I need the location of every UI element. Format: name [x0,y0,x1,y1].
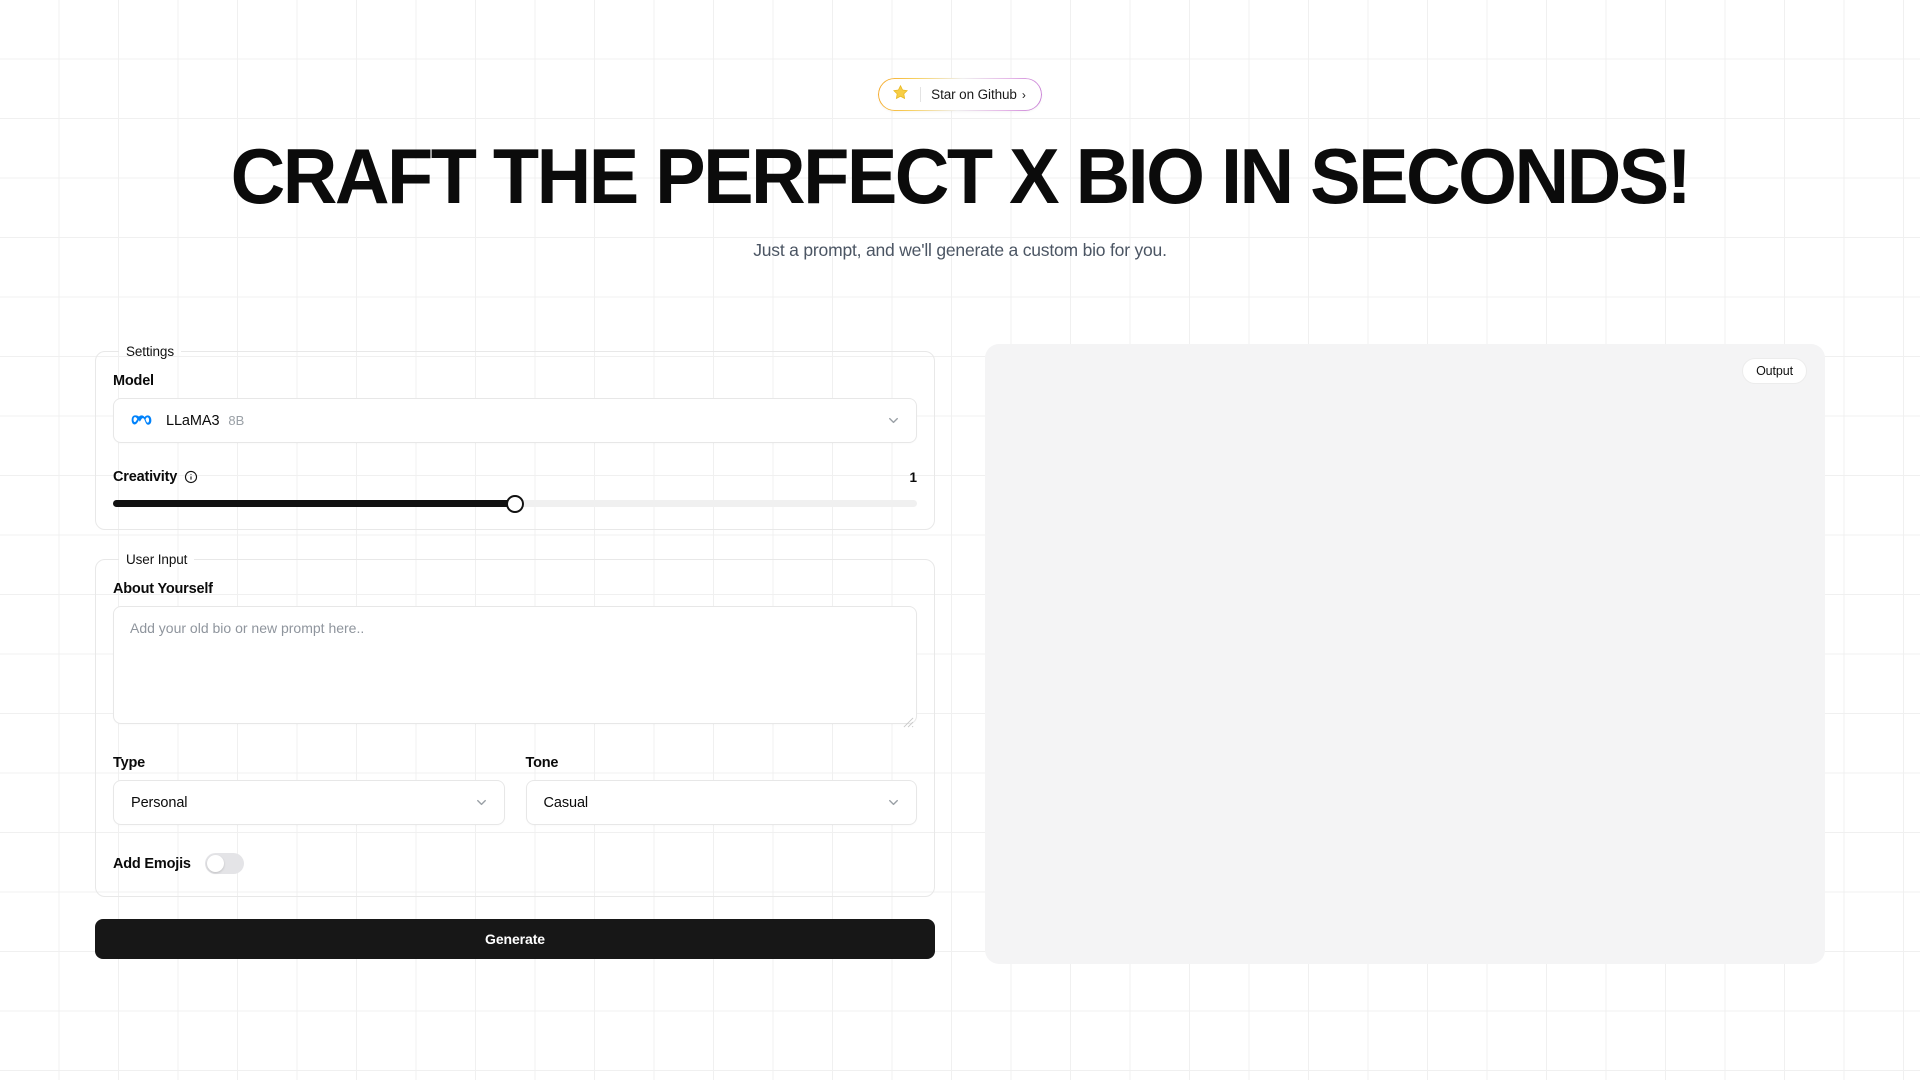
form-column: Settings Model LLaMA3 8B Creativity [95,344,935,959]
creativity-slider-thumb[interactable] [506,495,524,513]
add-emojis-toggle[interactable] [205,853,244,874]
output-panel: Output [985,344,1825,964]
type-tone-row: Type Personal Tone Casual [113,755,917,825]
creativity-slider[interactable] [113,500,917,507]
settings-panel: Settings Model LLaMA3 8B Creativity [95,344,935,530]
type-field: Type Personal [113,755,505,825]
model-size: 8B [228,413,244,428]
about-yourself-textarea[interactable] [113,606,917,724]
generate-button[interactable]: Generate [95,919,935,959]
chevron-down-icon[interactable] [474,795,489,810]
star-icon [892,84,909,105]
model-select[interactable]: LLaMA3 8B [113,398,917,443]
creativity-value: 1 [909,470,917,485]
type-label: Type [113,755,505,771]
about-yourself-label: About Yourself [113,581,917,597]
settings-legend: Settings [119,344,181,359]
page-subtitle: Just a prompt, and we'll generate a cust… [0,240,1920,261]
output-badge: Output [1742,358,1807,384]
model-value: LLaMA3 [166,413,219,429]
hero-section: Star on Github › CRAFT THE PERFECT X BIO… [0,0,1920,261]
type-select[interactable]: Personal [113,780,505,825]
star-on-github-badge[interactable]: Star on Github › [878,78,1042,111]
type-value: Personal [131,795,187,811]
info-circle-icon[interactable] [184,470,198,484]
tone-select[interactable]: Casual [526,780,918,825]
badge-divider [920,87,921,102]
page-title: CRAFT THE PERFECT X BIO IN SECONDS! [29,139,1891,214]
toggle-knob [207,855,224,872]
meta-logo-icon [131,413,152,428]
creativity-label: Creativity [113,469,177,485]
chevron-down-icon[interactable] [886,413,901,428]
main-content: Settings Model LLaMA3 8B Creativity [0,344,1920,964]
chevron-right-icon: › [1022,88,1026,102]
chevron-down-icon[interactable] [886,795,901,810]
user-input-legend: User Input [119,552,194,567]
tone-label: Tone [526,755,918,771]
user-input-panel: User Input About Yourself Type Personal [95,552,935,897]
tone-field: Tone Casual [526,755,918,825]
tone-value: Casual [544,795,589,811]
add-emojis-row: Add Emojis [113,853,917,874]
model-label: Model [113,373,917,389]
output-column: Output [985,344,1825,964]
star-on-github-label: Star on Github [931,87,1017,102]
about-yourself-wrap [113,606,917,729]
add-emojis-label: Add Emojis [113,856,191,872]
creativity-slider-fill [113,500,515,507]
creativity-header: Creativity 1 [113,469,917,485]
